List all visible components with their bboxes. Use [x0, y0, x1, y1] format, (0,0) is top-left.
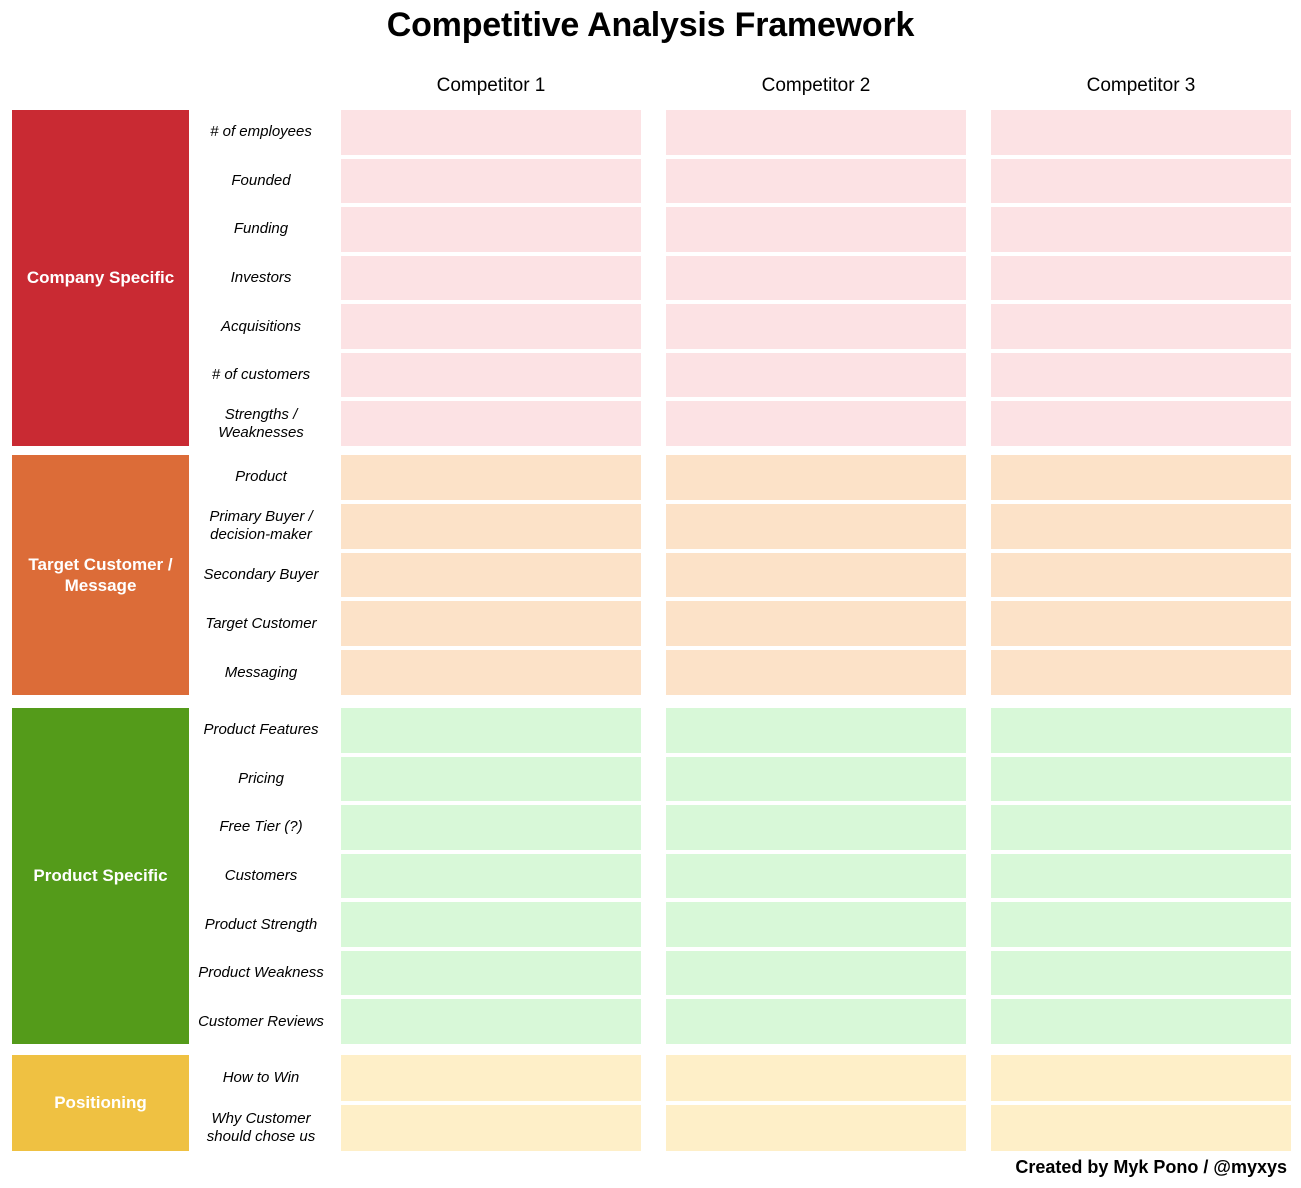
row-label: Why Customer should chose us [190, 1105, 332, 1151]
row-label: Pricing [190, 757, 332, 802]
entry-cell[interactable] [341, 110, 641, 155]
row-label: Investors [190, 256, 332, 301]
section-positioning: PositioningHow to WinWhy Customer should… [0, 1055, 1301, 1151]
entry-cell[interactable] [341, 854, 641, 899]
table-row: How to Win [0, 1055, 1301, 1101]
entry-cell[interactable] [666, 757, 966, 802]
row-label: Primary Buyer / decision-maker [190, 504, 332, 549]
entry-cell[interactable] [991, 757, 1291, 802]
entry-cell[interactable] [341, 401, 641, 446]
table-row: Investors [0, 256, 1301, 301]
entry-cell[interactable] [991, 902, 1291, 947]
entry-cell[interactable] [991, 650, 1291, 695]
entry-cell[interactable] [341, 601, 641, 646]
section-target-customer-message: Target Customer / MessageProductPrimary … [0, 455, 1301, 695]
row-label-text: Secondary Buyer [203, 566, 318, 584]
section-rows: How to WinWhy Customer should chose us [0, 1055, 1301, 1151]
entry-cell[interactable] [341, 1055, 641, 1101]
entry-cell[interactable] [341, 504, 641, 549]
row-label-text: Why Customer should chose us [190, 1110, 332, 1146]
row-label-text: Funding [234, 220, 288, 238]
row-label-text: Primary Buyer / decision-maker [190, 508, 332, 544]
row-label: Founded [190, 159, 332, 204]
row-label-text: Target Customer [205, 615, 316, 633]
row-label: # of employees [190, 110, 332, 155]
row-label: Secondary Buyer [190, 553, 332, 598]
competitive-analysis-framework: Competitive Analysis Framework Competito… [0, 0, 1301, 1188]
table-row: Product Features [0, 708, 1301, 753]
row-label-text: # of customers [212, 366, 310, 384]
entry-cell[interactable] [341, 708, 641, 753]
row-label-text: Messaging [225, 664, 298, 682]
entry-cell[interactable] [991, 805, 1291, 850]
entry-cell[interactable] [666, 601, 966, 646]
entry-cell[interactable] [341, 757, 641, 802]
entry-cell[interactable] [991, 1105, 1291, 1151]
table-row: Why Customer should chose us [0, 1105, 1301, 1151]
row-label: Funding [190, 207, 332, 252]
entry-cell[interactable] [666, 1105, 966, 1151]
entry-cell[interactable] [666, 999, 966, 1044]
entry-cell[interactable] [991, 1055, 1291, 1101]
row-label-text: Product Strength [205, 916, 318, 934]
column-header-competitor-1: Competitor 1 [341, 70, 641, 102]
entry-cell[interactable] [341, 256, 641, 301]
entry-cell[interactable] [666, 207, 966, 252]
column-header-competitor-2: Competitor 2 [666, 70, 966, 102]
row-label: Product [190, 455, 332, 500]
section-rows: Product FeaturesPricingFree Tier (?)Cust… [0, 708, 1301, 1044]
table-row: Founded [0, 159, 1301, 204]
row-label: Product Strength [190, 902, 332, 947]
entry-cell[interactable] [666, 455, 966, 500]
entry-cell[interactable] [341, 207, 641, 252]
table-row: Product Strength [0, 902, 1301, 947]
column-header-row: Competitor 1 Competitor 2 Competitor 3 [0, 70, 1301, 102]
entry-cell[interactable] [991, 304, 1291, 349]
entry-cell[interactable] [666, 304, 966, 349]
table-row: Customers [0, 854, 1301, 899]
row-label: # of customers [190, 353, 332, 398]
entry-cell[interactable] [991, 999, 1291, 1044]
entry-cell[interactable] [666, 951, 966, 996]
entry-cell[interactable] [666, 256, 966, 301]
entry-cell[interactable] [666, 1055, 966, 1101]
page-title: Competitive Analysis Framework [0, 6, 1301, 45]
row-label: Customers [190, 854, 332, 899]
entry-cell[interactable] [666, 650, 966, 695]
row-label-text: Product Weakness [198, 964, 324, 982]
entry-cell[interactable] [991, 110, 1291, 155]
row-label-text: Product [235, 468, 287, 486]
entry-cell[interactable] [666, 708, 966, 753]
table-row: # of customers [0, 353, 1301, 398]
row-label-text: Customers [225, 867, 298, 885]
table-row: Acquisitions [0, 304, 1301, 349]
entry-cell[interactable] [341, 455, 641, 500]
entry-cell[interactable] [991, 256, 1291, 301]
row-label-text: # of employees [210, 123, 312, 141]
entry-cell[interactable] [341, 1105, 641, 1151]
row-label: Customer Reviews [190, 999, 332, 1044]
entry-cell[interactable] [341, 650, 641, 695]
entry-cell[interactable] [991, 854, 1291, 899]
row-label: Target Customer [190, 601, 332, 646]
entry-cell[interactable] [991, 455, 1291, 500]
section-rows: ProductPrimary Buyer / decision-makerSec… [0, 455, 1301, 695]
entry-cell[interactable] [666, 159, 966, 204]
table-row: Customer Reviews [0, 999, 1301, 1044]
section-product-specific: Product SpecificProduct FeaturesPricingF… [0, 708, 1301, 1044]
entry-cell[interactable] [341, 159, 641, 204]
section-rows: # of employeesFoundedFundingInvestorsAcq… [0, 110, 1301, 446]
table-row: Primary Buyer / decision-maker [0, 504, 1301, 549]
entry-cell[interactable] [341, 951, 641, 996]
table-row: Target Customer [0, 601, 1301, 646]
entry-cell[interactable] [991, 159, 1291, 204]
row-label-text: Product Features [203, 721, 318, 739]
entry-cell[interactable] [666, 401, 966, 446]
table-row: Product Weakness [0, 951, 1301, 996]
row-label-text: Founded [231, 172, 290, 190]
entry-cell[interactable] [666, 854, 966, 899]
section-company-specific: Company Specific# of employeesFoundedFun… [0, 110, 1301, 446]
row-label-text: Acquisitions [221, 318, 301, 336]
entry-cell[interactable] [341, 304, 641, 349]
entry-cell[interactable] [341, 999, 641, 1044]
table-row: # of employees [0, 110, 1301, 155]
entry-cell[interactable] [991, 708, 1291, 753]
entry-cell[interactable] [991, 504, 1291, 549]
entry-cell[interactable] [991, 601, 1291, 646]
row-label-text: Investors [231, 269, 292, 287]
row-label-text: Free Tier (?) [219, 818, 302, 836]
footer-credit: Created by Myk Pono / @myxys [1015, 1157, 1287, 1178]
row-label: Messaging [190, 650, 332, 695]
table-row: Strengths / Weaknesses [0, 401, 1301, 446]
entry-cell[interactable] [666, 553, 966, 598]
table-row: Funding [0, 207, 1301, 252]
row-label: Free Tier (?) [190, 805, 332, 850]
row-label-text: Strengths / Weaknesses [190, 406, 332, 442]
entry-cell[interactable] [666, 110, 966, 155]
row-label: Product Features [190, 708, 332, 753]
table-row: Product [0, 455, 1301, 500]
entry-cell[interactable] [991, 207, 1291, 252]
row-label: Acquisitions [190, 304, 332, 349]
table-row: Pricing [0, 757, 1301, 802]
entry-cell[interactable] [991, 951, 1291, 996]
entry-cell[interactable] [991, 401, 1291, 446]
entry-cell[interactable] [666, 504, 966, 549]
entry-cell[interactable] [341, 353, 641, 398]
row-label-text: Customer Reviews [198, 1013, 324, 1031]
entry-cell[interactable] [991, 553, 1291, 598]
entry-cell[interactable] [341, 553, 641, 598]
entry-cell[interactable] [341, 805, 641, 850]
entry-cell[interactable] [666, 805, 966, 850]
column-header-competitor-3: Competitor 3 [991, 70, 1291, 102]
entry-cell[interactable] [341, 902, 641, 947]
row-label: Product Weakness [190, 951, 332, 996]
entry-cell[interactable] [991, 353, 1291, 398]
entry-cell[interactable] [666, 902, 966, 947]
table-row: Free Tier (?) [0, 805, 1301, 850]
row-label-text: Pricing [238, 770, 284, 788]
row-label: How to Win [190, 1055, 332, 1101]
row-label-text: How to Win [223, 1069, 300, 1087]
row-label: Strengths / Weaknesses [190, 401, 332, 446]
entry-cell[interactable] [666, 353, 966, 398]
table-row: Messaging [0, 650, 1301, 695]
table-row: Secondary Buyer [0, 553, 1301, 598]
